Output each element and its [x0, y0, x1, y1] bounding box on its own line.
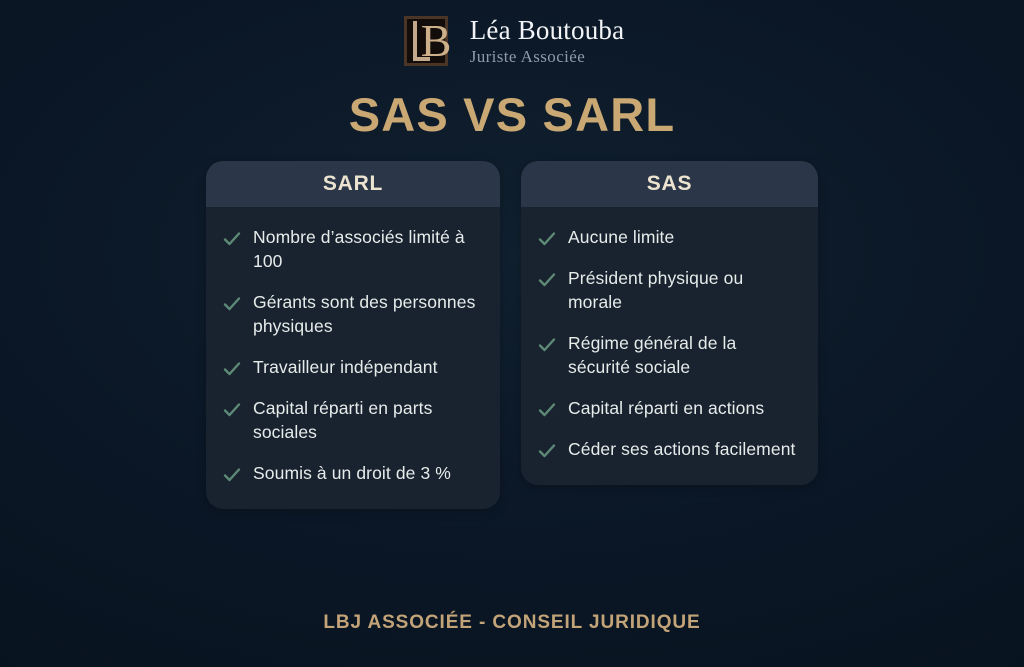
list-item-text: Capital réparti en actions: [568, 396, 764, 420]
list-item: Capital réparti en parts sociales: [222, 396, 484, 444]
card-body-sarl: Nombre d’associés limité à 100 Gérants s…: [206, 207, 500, 509]
card-body-sas: Aucune limite Président physique ou mora…: [521, 207, 818, 485]
check-icon: [222, 465, 242, 485]
list-item-text: Nombre d’associés limité à 100: [253, 225, 484, 273]
list-item-text: Régime général de la sécurité sociale: [568, 331, 802, 379]
list-item: Président physique ou morale: [537, 266, 802, 314]
card-header-sarl: SARL: [206, 161, 500, 207]
card-header-label: SARL: [323, 172, 383, 196]
list-item: Céder ses actions facilement: [537, 437, 802, 461]
card-header-sas: SAS: [521, 161, 818, 207]
logo-letter-b: B: [421, 19, 452, 63]
list-item-text: Soumis à un droit de 3 %: [253, 461, 451, 485]
check-icon: [222, 400, 242, 420]
list-item-text: Aucune limite: [568, 225, 674, 249]
check-icon: [222, 359, 242, 379]
list-item: Nombre d’associés limité à 100: [222, 225, 484, 273]
brand-name: Léa Boutouba: [470, 15, 625, 46]
list-item: Travailleur indépendant: [222, 355, 484, 379]
list-item-text: Céder ses actions facilement: [568, 437, 796, 461]
list-item-text: Travailleur indépendant: [253, 355, 438, 379]
list-item: Capital réparti en actions: [537, 396, 802, 420]
list-item: Gérants sont des personnes physiques: [222, 290, 484, 338]
lb-monogram-icon: B: [400, 12, 456, 72]
check-icon: [222, 229, 242, 249]
infographic-page: B Léa Boutouba Juriste Associée SAS VS S…: [0, 0, 1024, 667]
footer-text: LBJ ASSOCIÉE - CONSEIL JURIDIQUE: [0, 612, 1024, 634]
card-sas: SAS Aucune limite Président physique ou …: [521, 161, 818, 485]
brand-header: B Léa Boutouba Juriste Associée: [0, 12, 1024, 72]
list-item: Aucune limite: [537, 225, 802, 249]
check-icon: [537, 400, 557, 420]
list-item: Soumis à un droit de 3 %: [222, 461, 484, 485]
page-title: SAS VS SARL: [0, 88, 1024, 142]
check-icon: [537, 270, 557, 290]
comparison-cards: SARL Nombre d’associés limité à 100 Géra…: [206, 161, 818, 509]
list-item-text: Président physique ou morale: [568, 266, 802, 314]
card-header-label: SAS: [647, 172, 693, 196]
brand-subtitle: Juriste Associée: [470, 46, 585, 68]
check-icon: [537, 441, 557, 461]
card-sarl: SARL Nombre d’associés limité à 100 Géra…: [206, 161, 500, 509]
list-item-text: Gérants sont des personnes physiques: [253, 290, 484, 338]
brand-text-block: Léa Boutouba Juriste Associée: [470, 15, 625, 70]
list-item: Régime général de la sécurité sociale: [537, 331, 802, 379]
check-icon: [537, 335, 557, 355]
list-item-text: Capital réparti en parts sociales: [253, 396, 484, 444]
check-icon: [222, 294, 242, 314]
check-icon: [537, 229, 557, 249]
